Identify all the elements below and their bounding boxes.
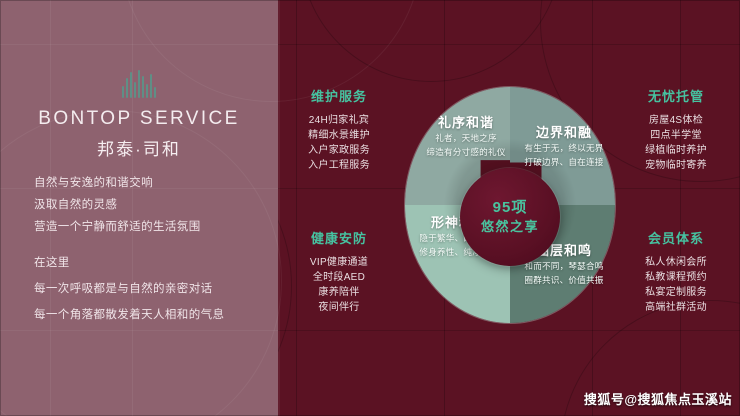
barcode-motif-icon (122, 68, 156, 98)
slide-canvas: BONTOP SERVICE 邦泰·司和 自然与安逸的和谐交响 汲取自然的灵感 … (0, 0, 740, 416)
quadrant-sub-2: 打破边界、自在连接 (508, 155, 620, 169)
intro-copy: 自然与安逸的和谐交响 汲取自然的灵感 营造一个宁静而舒适的生活氛围 在这里 每一… (34, 172, 260, 328)
list-item: 四点半学堂 (628, 128, 724, 143)
watermark: 搜狐号@搜狐焦点玉溪站 (584, 389, 732, 408)
service-list-custody: 房屋4S体检 四点半学堂 绿植临时养护 宠物临时寄养 (628, 113, 724, 173)
service-column-maintenance: 维护服务 24H归家礼宾 精细水景维护 入户家政服务 入户工程服务 (296, 86, 382, 173)
core-label: 悠然之享 (481, 217, 539, 236)
brand-panel: BONTOP SERVICE 邦泰·司和 自然与安逸的和谐交响 汲取自然的灵感 … (0, 0, 278, 416)
service-list-maintenance: 24H归家礼宾 精细水景维护 入户家政服务 入户工程服务 (296, 113, 382, 173)
list-item: 房屋4S体检 (628, 113, 724, 128)
intro-line-3: 营造一个宁静而舒适的生活氛围 (34, 216, 260, 238)
intro-line-2: 汲取自然的灵感 (34, 194, 260, 216)
service-column-custody: 无忧托管 房屋4S体检 四点半学堂 绿植临时养护 宠物临时寄养 (628, 86, 724, 173)
list-item: 绿植临时养护 (628, 143, 724, 158)
quadrant-sub-1: 有生于无，终以无界 (508, 141, 620, 155)
quadrant-label-top-left: 礼序和谐 礼者，天地之序 缔造有分寸感的礼仪 (414, 112, 518, 159)
quadrant-sub-2: 缔造有分寸感的礼仪 (414, 145, 518, 159)
list-item: 私宴定制服务 (628, 285, 724, 300)
panel-divider (278, 0, 280, 416)
quadrant-sub-2: 圈群共识、价值共振 (508, 273, 620, 287)
list-item: 精细水景维护 (296, 128, 382, 143)
service-title-maintenance: 维护服务 (296, 86, 382, 105)
list-item: 高端社群活动 (628, 300, 724, 315)
list-item: 入户工程服务 (296, 158, 382, 173)
list-item: 24H归家礼宾 (296, 113, 382, 128)
quadrant-title: 边界和融 (508, 122, 620, 141)
quadrant-sub-1: 礼者，天地之序 (414, 131, 518, 145)
service-column-membership: 会员体系 私人休闲会所 私教课程预约 私宴定制服务 高端社群活动 (628, 228, 724, 315)
diagram-core-badge: 95项 悠然之享 (460, 168, 560, 266)
brand-name-cn: 邦泰·司和 (0, 135, 278, 160)
list-item: 全时段AED (296, 270, 382, 285)
list-item: 私人休闲会所 (628, 255, 724, 270)
intro-line-5: 每一次呼吸都是与自然的亲密对话 (34, 276, 260, 302)
intro-line-6: 每一个角落都散发着天人相和的气息 (34, 302, 260, 328)
quadrant-title: 礼序和谐 (414, 112, 518, 131)
service-title-membership: 会员体系 (628, 228, 724, 247)
service-title-custody: 无忧托管 (628, 86, 724, 105)
brand-block: BONTOP SERVICE 邦泰·司和 (0, 108, 278, 160)
brand-name-en: BONTOP SERVICE (0, 108, 278, 131)
service-list-health: VIP健康通道 全时段AED 康养陪伴 夜间伴行 (296, 255, 382, 315)
intro-line-1: 自然与安逸的和谐交响 (34, 172, 260, 194)
service-column-health: 健康安防 VIP健康通道 全时段AED 康养陪伴 夜间伴行 (296, 228, 382, 315)
list-item: 宠物临时寄养 (628, 158, 724, 173)
list-item: 入户家政服务 (296, 143, 382, 158)
list-item: 私教课程预约 (628, 270, 724, 285)
pinwheel-diagram: 礼序和谐 礼者，天地之序 缔造有分寸感的礼仪 边界和融 有生于无，终以无界 打破… (398, 84, 622, 326)
core-count: 95项 (493, 198, 528, 217)
list-item: VIP健康通道 (296, 255, 382, 270)
list-item: 夜间伴行 (296, 300, 382, 315)
quadrant-label-top-right: 边界和融 有生于无，终以无界 打破边界、自在连接 (508, 122, 620, 169)
intro-line-4: 在这里 (34, 250, 260, 276)
service-list-membership: 私人休闲会所 私教课程预约 私宴定制服务 高端社群活动 (628, 255, 724, 315)
service-title-health: 健康安防 (296, 228, 382, 247)
list-item: 康养陪伴 (296, 285, 382, 300)
